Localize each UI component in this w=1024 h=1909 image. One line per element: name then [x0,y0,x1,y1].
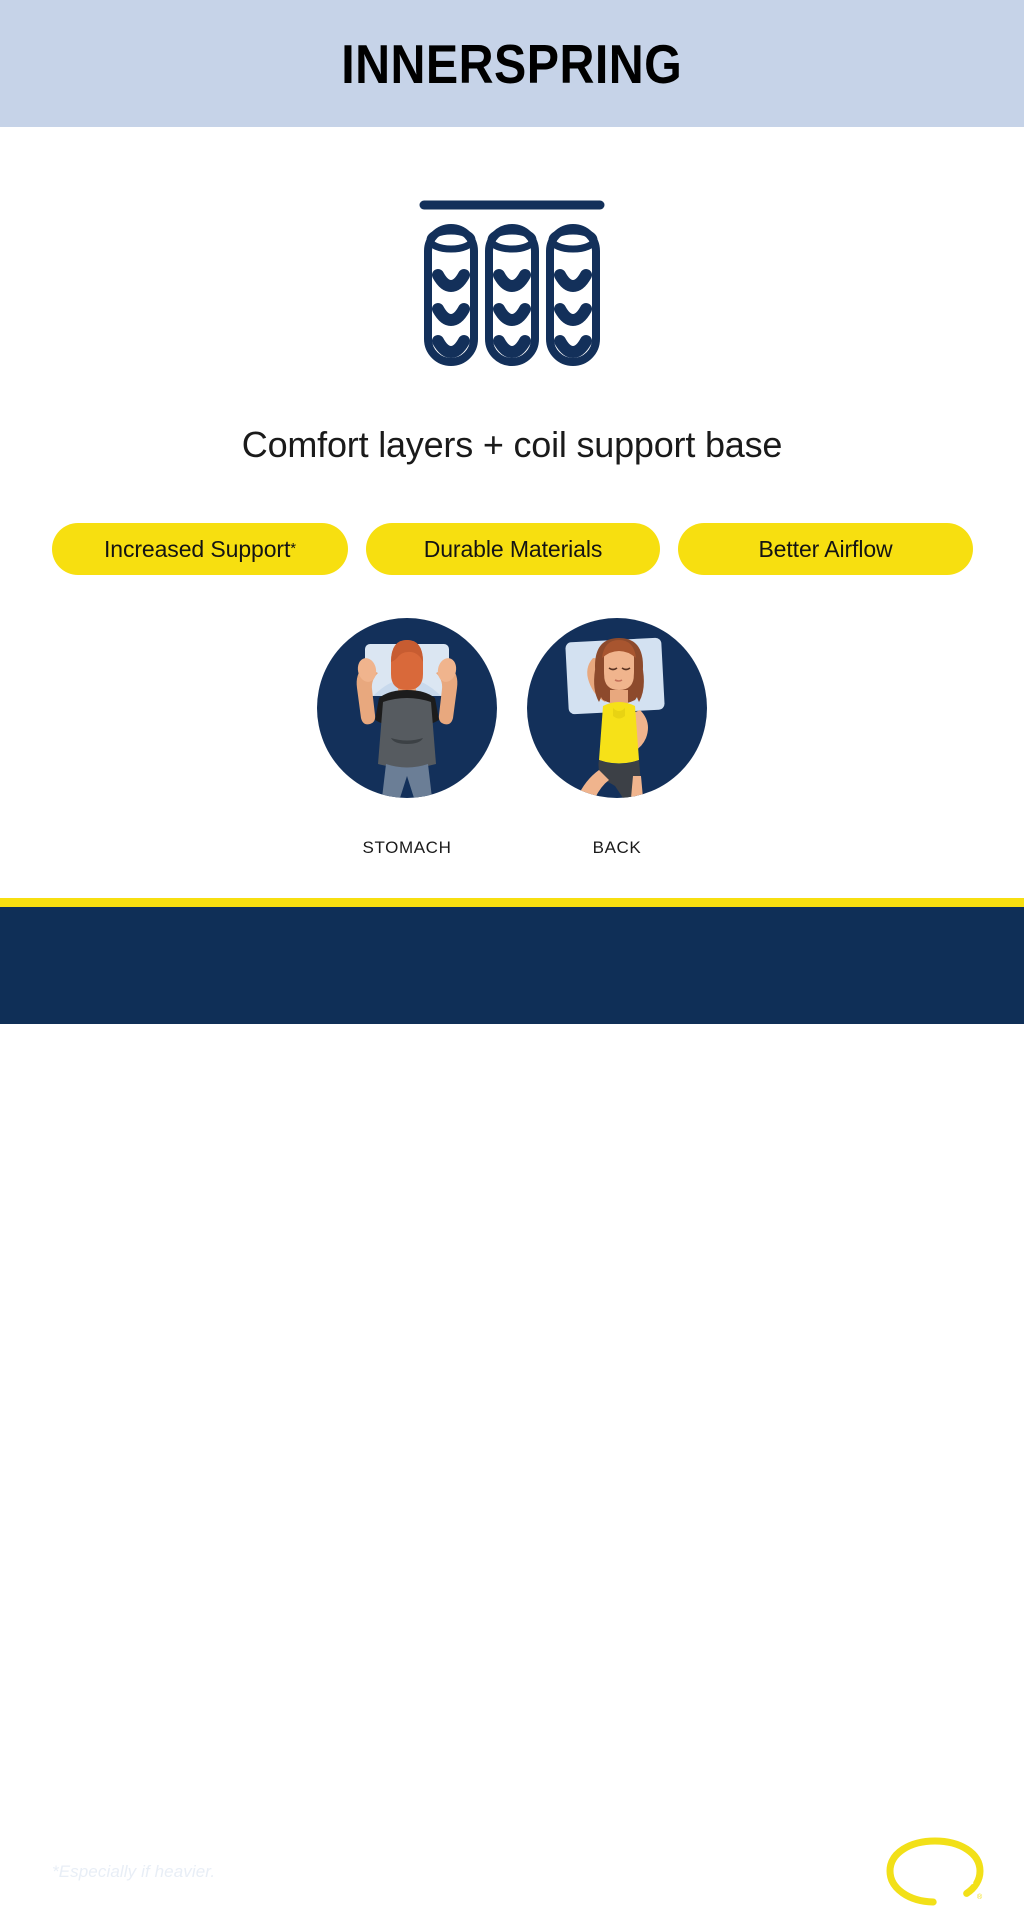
feature-pill-label: Increased Support [104,536,290,563]
footnote-text: *Especially if heavier. [52,1862,215,1882]
page-title: INNERSPRING [342,32,683,96]
page-footer: *Especially if heavier. Serta ® [0,907,1024,1024]
stomach-sleeper-circle [317,618,497,798]
footer-accent-stripe [0,898,1024,907]
back-sleeper-illustration [527,618,707,798]
feature-pill-row: Increased Support* Durable Materials Bet… [52,523,973,575]
stomach-sleeper-illustration [317,618,497,798]
feature-pill-durable-materials[interactable]: Durable Materials [366,523,660,575]
page-header: INNERSPRING [0,0,1024,127]
sleep-position-label-back: BACK [593,838,642,858]
feature-pill-better-airflow[interactable]: Better Airflow [678,523,973,575]
coil-springs-icon [412,190,612,370]
headline-text: Comfort layers + coil support base [0,424,1024,466]
sleep-position-label-stomach: STOMACH [363,838,452,858]
infographic-page: INNERSPRING [0,0,1024,1024]
feature-pill-label: Durable Materials [424,536,603,563]
feature-pill-label: Better Airflow [758,536,892,563]
serta-logo-text: Serta [897,1854,973,1891]
feature-pill-increased-support[interactable]: Increased Support* [52,523,348,575]
back-sleeper-circle [527,618,707,798]
serta-logo[interactable]: Serta ® [884,1835,986,1909]
coil-icon-container [0,190,1024,370]
sleep-position-stomach[interactable]: STOMACH [317,618,497,858]
sleep-position-back[interactable]: BACK [527,618,707,858]
registered-mark: ® [977,1893,983,1901]
sleep-positions-row: STOMACH [0,618,1024,858]
